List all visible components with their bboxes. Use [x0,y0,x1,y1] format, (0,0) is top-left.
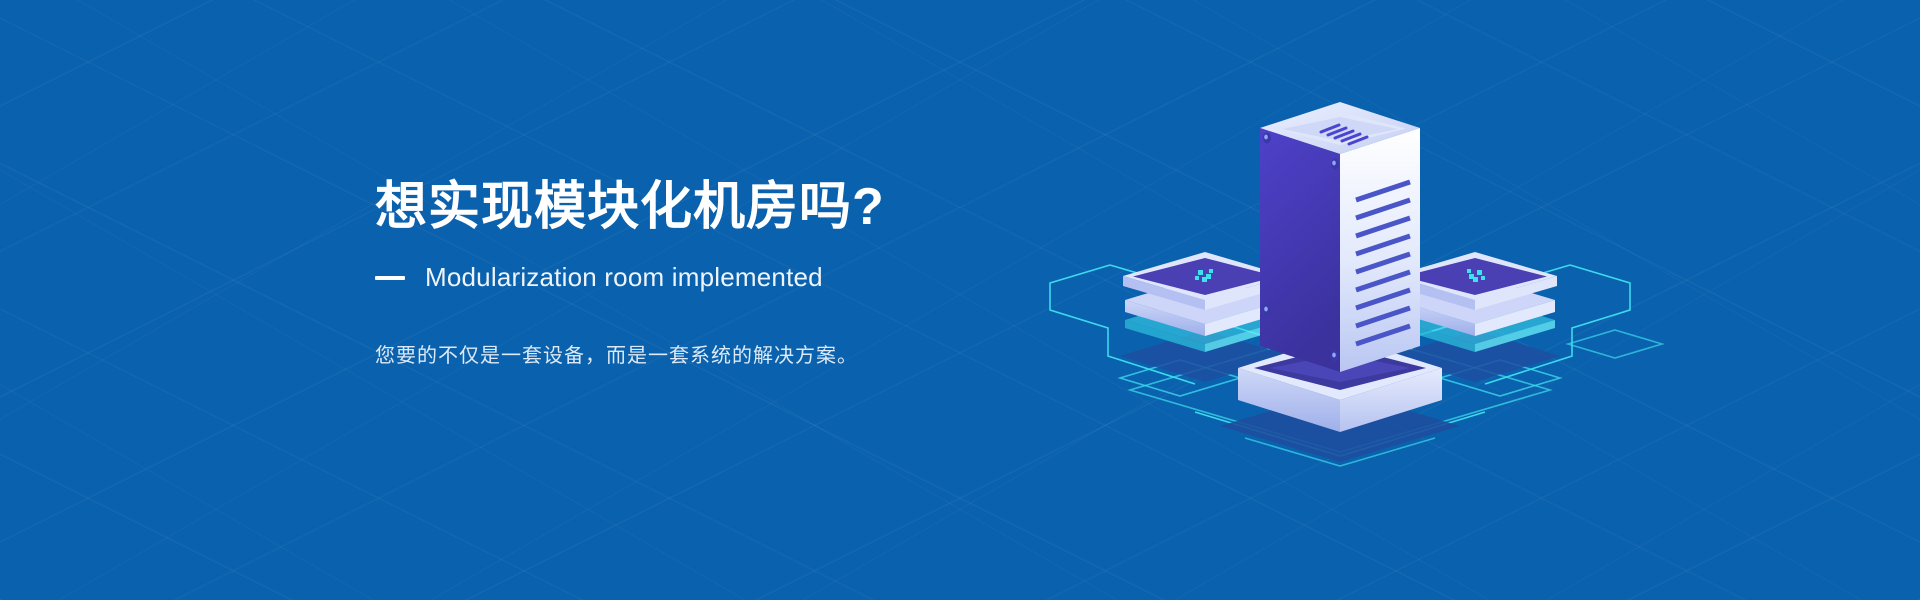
isometric-server-illustration [990,60,1690,480]
dash-accent-icon [375,276,405,280]
banner-headline: 想实现模块化机房吗? [375,178,1075,236]
banner-description: 您要的不仅是一套设备，而是一套系统的解决方案。 [375,339,1075,368]
server-rack [1260,102,1420,372]
banner-subtitle: Modularization room implemented [425,262,823,293]
hero-banner: 想实现模块化机房吗? Modularization room implement… [0,0,1920,600]
banner-copy-block: 想实现模块化机房吗? Modularization room implement… [375,178,1075,368]
banner-subtitle-row: Modularization room implemented [375,262,1075,293]
